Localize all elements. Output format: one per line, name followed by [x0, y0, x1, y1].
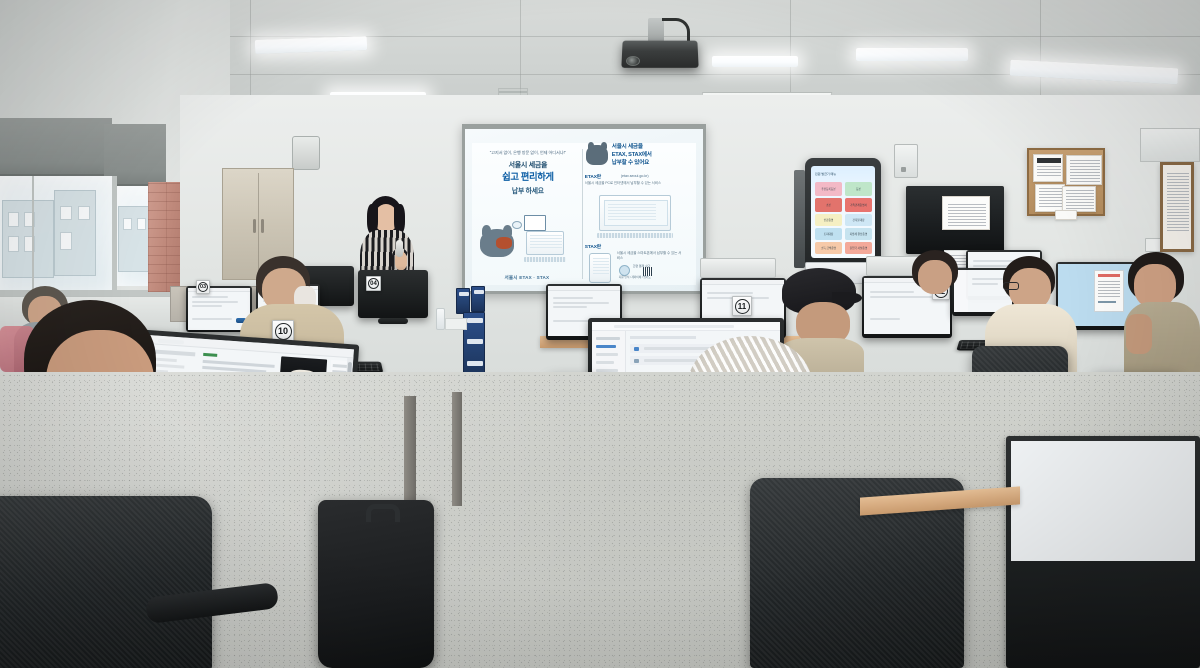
glasses — [1003, 282, 1019, 290]
stax-label: STAX란 — [585, 243, 601, 250]
stax-sub: 지문 인식 / 계좌이체 / 앱카드 — [619, 275, 683, 279]
slide-headline-1: 서울시 세금을 — [479, 161, 577, 170]
placard-number: 11 — [735, 299, 750, 314]
window — [0, 176, 116, 294]
placard-number: 10 — [275, 323, 292, 340]
kiosk-side-panel — [794, 170, 805, 268]
notice-sheet — [1066, 155, 1102, 185]
slide-left-column: "고지서 없이, 은행 방문 없이, 언제 어디서나!" 서울시 세금을 쉽고 … — [472, 143, 582, 285]
microphone[interactable] — [396, 240, 403, 257]
placard-number: 04 — [368, 278, 379, 289]
backpack — [318, 500, 434, 668]
pc-tower — [700, 258, 776, 278]
bulletin-board — [1027, 148, 1105, 216]
ceiling-light — [255, 36, 367, 54]
notice-sheet — [942, 196, 990, 230]
kiosk-header: 민원 발급기 메뉴 — [815, 172, 836, 176]
storage-box — [471, 286, 485, 312]
ceiling-light — [712, 56, 798, 67]
slide-quote: "고지서 없이, 은행 방문 없이, 언제 어디서나!" — [479, 150, 577, 156]
window-mullion — [112, 176, 117, 298]
projection-screen: "고지서 없이, 은행 방문 없이, 언제 어디서나!" 서울시 세금을 쉽고 … — [462, 124, 706, 294]
desk-leg — [452, 392, 462, 506]
participant-arm — [1126, 314, 1152, 354]
slide-right-title: 서울시 세금을 ETAX, STAX에서 납부할 수 있어요 — [612, 144, 684, 167]
slide-mascot-ear — [588, 142, 594, 149]
monitor-stand — [378, 318, 408, 324]
kiosk-tile[interactable]: 토지대장 — [815, 228, 842, 240]
classroom-photo: "고지서 없이, 은행 방문 없이, 언제 어디서나!" 서울시 세금을 쉽고 … — [0, 0, 1200, 668]
monitor-screen — [1011, 441, 1195, 561]
framed-poster — [1160, 162, 1194, 252]
wall-ac-unit — [1140, 128, 1200, 162]
placard-11: 11 — [732, 296, 752, 316]
notice-sheet — [1035, 184, 1065, 212]
projector-lens — [626, 56, 640, 66]
slide-illustration-accent — [496, 237, 512, 249]
cap-brim — [832, 292, 862, 304]
placard-03: 03 — [196, 280, 210, 294]
kiosk-tile[interactable]: 지방세 완납증명 — [845, 228, 872, 240]
kiosk-tile[interactable]: 출입국 사실증명 — [845, 242, 872, 254]
kiosk-tile[interactable]: 인감증명 — [815, 214, 842, 226]
document-preview — [1094, 270, 1124, 312]
slide-mascot-ear — [601, 142, 607, 149]
office-chair[interactable] — [0, 496, 212, 668]
notice-sheet — [1033, 154, 1063, 182]
slide-illustration-coin — [512, 221, 522, 229]
kiosk-tile[interactable]: 소득 금액증명 — [815, 242, 842, 254]
participant-right — [1124, 252, 1200, 382]
kiosk-tile[interactable]: 건축물대장 — [845, 214, 872, 226]
kiosk-screen[interactable]: 민원 발급기 메뉴 주민등록등본 등본 초본 가족관계증명서 인감증명 건축물대… — [811, 166, 875, 258]
stax-phone-illustration — [589, 253, 611, 283]
kiosk-tile[interactable]: 등본 — [845, 182, 872, 196]
etax-label: ETAX란 — [585, 173, 601, 180]
sanitizer-bottle — [436, 308, 445, 330]
placard-04: 04 — [366, 276, 381, 291]
wall-speaker — [292, 136, 320, 170]
slide-illustration-mascot-ear — [482, 225, 491, 236]
participant-head — [918, 260, 952, 294]
participant-middle — [906, 250, 968, 310]
foreground-monitor-right — [1006, 436, 1200, 668]
slide-illustration-monitor — [526, 231, 564, 255]
stax-note: 간편 결제 수단 — [633, 264, 679, 268]
ceiling-light — [856, 48, 968, 61]
slide-right-column: 서울시 세금을 ETAX, STAX에서 납부할 수 있어요 ETAX란 (et… — [583, 143, 695, 285]
etax-pc-illustration — [599, 195, 671, 231]
wall-control-box[interactable] — [894, 144, 918, 178]
kiosk-tile[interactable]: 주민등록등본 — [815, 182, 842, 196]
stax-description: 서울시 세금을 스마트폰에서 납부할 수 있는 서비스 — [617, 251, 683, 261]
placard-number: 03 — [198, 282, 208, 292]
presentation-slide: "고지서 없이, 은행 방문 없이, 언제 어디서나!" 서울시 세금을 쉽고 … — [472, 143, 696, 285]
kiosk-tile[interactable]: 초본 — [815, 198, 842, 212]
storage-box — [456, 288, 470, 314]
slide-headline-3: 납부 하세요 — [479, 185, 577, 195]
projection-surface: "고지서 없이, 은행 방문 없이, 언제 어디서나!" 서울시 세금을 쉽고 … — [465, 129, 703, 291]
brick-pillar — [148, 182, 182, 292]
notice-sheet — [1055, 210, 1077, 220]
notice-sheet — [1062, 186, 1096, 212]
slide-illustration-keyboard — [524, 257, 566, 262]
backpack-handle — [366, 504, 400, 522]
window-blind[interactable] — [0, 118, 112, 176]
ceiling-light — [1010, 60, 1179, 85]
slide-illustration-envelope — [524, 215, 546, 231]
kiosk-tile[interactable]: 가족관계증명서 — [845, 198, 872, 212]
etax-keyboard-illustration — [597, 233, 673, 238]
slide-footer: 서울시 ETAX · STAX — [472, 275, 582, 281]
slide-headline-2: 쉽고 편리하게 — [479, 171, 577, 183]
wall-display-board — [906, 186, 1004, 254]
slide-illustration-mascot-ear — [503, 225, 512, 236]
tissue-box — [445, 318, 467, 330]
etax-description: 서울시 세금을 PC로 인터넷에서 납부할 수 있는 서비스 — [585, 181, 683, 186]
etax-url: (etax.seoul.go.kr) — [621, 174, 649, 178]
